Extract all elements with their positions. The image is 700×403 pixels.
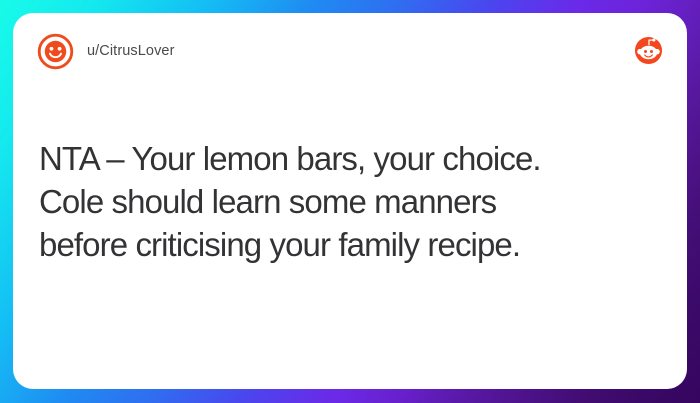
post-line-2: Cole should learn some manners <box>39 180 661 223</box>
reddit-comment-card: u/CitrusLover <box>13 13 687 389</box>
username-label: u/CitrusLover <box>87 43 175 59</box>
smiley-face-avatar-icon[interactable] <box>37 33 74 70</box>
reddit-snoo-logo-icon[interactable] <box>632 34 665 67</box>
card-header: u/CitrusLover <box>13 13 687 89</box>
user-identity-block[interactable]: u/CitrusLover <box>37 33 175 70</box>
post-line-3: before criticising your family recipe. <box>39 223 661 266</box>
screenshot-root: u/CitrusLover <box>0 0 700 403</box>
post-line-1: NTA – Your lemon bars, your choice. <box>39 137 661 180</box>
post-body: NTA – Your lemon bars, your choice. Cole… <box>39 137 661 266</box>
